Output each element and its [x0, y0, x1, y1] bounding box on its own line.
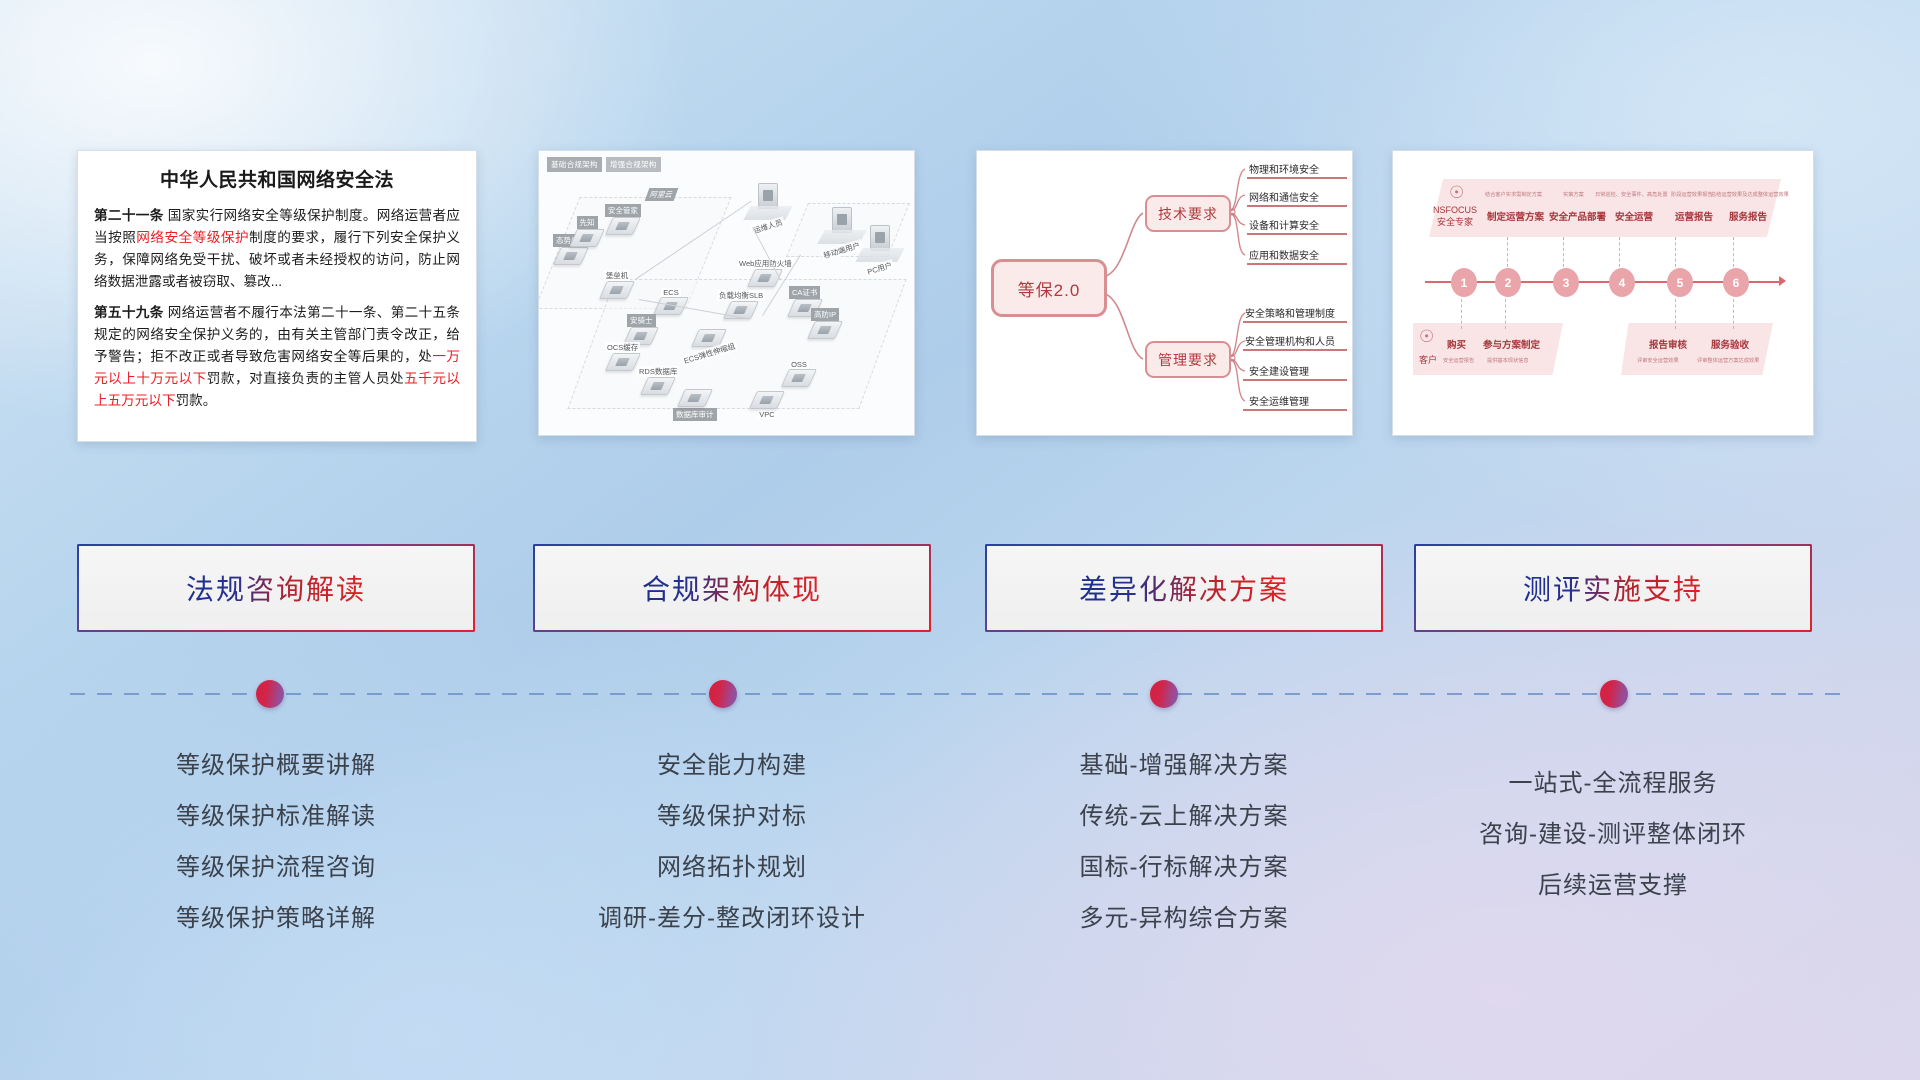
list-item: 基础-增强解决方案	[985, 740, 1383, 791]
node-label: 堡垒机	[604, 270, 631, 281]
node-bastion-host: 堡垒机	[603, 269, 631, 299]
node-label: VPC	[757, 410, 776, 419]
node-label: OSS	[789, 360, 809, 369]
band-customer-right	[1621, 323, 1773, 375]
leaf-underline	[1243, 409, 1347, 411]
law-article-21-highlight: 网络安全等级保护	[136, 230, 249, 245]
node-label: Web应用防火墙	[737, 258, 794, 269]
section-label-text: 法规咨询解读	[186, 568, 366, 608]
law-article-21: 第二十一条 国家实行网络安全等级保护制度。网络运营者应当按照网络安全等级保护制度…	[94, 205, 460, 293]
leaf-underline	[1247, 177, 1347, 179]
platform-shape	[743, 206, 792, 220]
list-item: 等级保护概要讲解	[77, 740, 475, 791]
tick-line	[1563, 237, 1565, 267]
poster-root: 中华人民共和国网络安全法 第二十一条 国家实行网络安全等级保护制度。网络运营者应…	[0, 0, 1920, 1080]
step-sub: 总结运营效果及达成整体运营效果	[1711, 191, 1789, 198]
law-title: 中华人民共和国网络安全法	[94, 165, 460, 192]
node-waf: Web应用防火墙	[737, 257, 794, 287]
tick-line	[1461, 299, 1463, 329]
leaf-underline	[1247, 263, 1347, 265]
mindmap-branch-management: 管理要求	[1145, 341, 1231, 378]
mindmap-leaf: 物理和环境安全	[1249, 161, 1319, 176]
timeline-dot-1	[256, 680, 284, 708]
node-ops-staff: 运维人员	[747, 183, 789, 232]
chip-icon	[605, 353, 641, 371]
timeline-step-dot: 1	[1451, 268, 1477, 297]
card-service-timeline: ☉ NSFOCUS 安全专家 结合客户实求需制定方案 制定运营方案 实策方案 安…	[1392, 150, 1814, 436]
step-sub: 日常巡检、安全事件、高危处置	[1595, 191, 1668, 198]
node-ecs-scaling-group: ECS弹性伸缩组	[681, 329, 738, 359]
node-label: 安全管家	[605, 204, 641, 217]
mindmap-leaf: 安全建设管理	[1249, 363, 1309, 378]
customer-avatar-icon: ☉	[1419, 327, 1434, 347]
customer-step-sub: 评审整体运营方案达成效果	[1697, 357, 1759, 364]
step-title: 制定运营方案	[1487, 209, 1544, 223]
node-oss: OSS	[785, 359, 813, 387]
law-article-59-text-b: 罚款，对直接负责的主管人员处	[207, 371, 404, 386]
list-item: 调研-差分-整改闭环设计	[533, 893, 931, 944]
customer-step-title: 参与方案制定	[1483, 337, 1540, 351]
section-labels-row: 法规咨询解读 合规架构体现 差异化解决方案 测评实施支持	[0, 544, 1920, 636]
node-anti-ddos-ip: 高防IP	[811, 307, 839, 339]
law-article-59-text-c: 罚款。	[176, 393, 217, 408]
node-security-butler: 安全管家	[605, 203, 641, 235]
platform-shape	[855, 248, 904, 262]
label-cloud: 阿里云	[645, 188, 678, 201]
node-label: RDS数据库	[637, 366, 679, 377]
step-title: 安全运营	[1615, 209, 1653, 223]
tab-enhanced-compliance[interactable]: 增强合规架构	[606, 157, 661, 172]
architecture-tabs: 基础合规架构 增强合规架构	[547, 157, 661, 172]
step-title: 安全产品部署	[1549, 209, 1606, 223]
timeline-dashed-line	[70, 693, 1850, 695]
chip-icon	[553, 247, 589, 265]
architecture-canvas: 基础合规架构 增强合规架构 阿里云 态势感知 先知 安全管家	[539, 151, 914, 435]
section-label-box-4[interactable]: 测评实施支持	[1414, 544, 1812, 632]
list-item: 一站式-全流程服务	[1414, 758, 1812, 809]
chip-icon	[781, 369, 817, 387]
mindmap-canvas: 等保2.0 技术要求 管理要求 物理和环境安全 网络和通信安全 设备和计算安全 …	[977, 151, 1352, 435]
service-timeline-canvas: ☉ NSFOCUS 安全专家 结合客户实求需制定方案 制定运营方案 实策方案 安…	[1393, 151, 1813, 435]
mindmap-root: 等保2.0	[991, 259, 1107, 317]
node-vpc: VPC	[753, 391, 781, 419]
section-label-box-2[interactable]: 合规架构体现	[533, 544, 931, 632]
timeline-step-dot: 4	[1609, 268, 1635, 297]
list-item: 等级保护策略详解	[77, 893, 475, 944]
list-item: 安全能力构建	[533, 740, 931, 791]
node-label: 高防IP	[811, 308, 839, 321]
tick-line	[1675, 237, 1677, 267]
node-pc-user: PC用户	[859, 225, 901, 274]
customer-step-sub: 评审安全运营效果	[1637, 357, 1679, 364]
chip-icon	[677, 389, 713, 407]
list-item: 传统-云上解决方案	[985, 791, 1383, 842]
tick-line	[1733, 299, 1735, 329]
customer-step-title: 服务验收	[1711, 337, 1749, 351]
timeline-arrow-icon	[1779, 276, 1786, 286]
expert-avatar-icon: ☉	[1449, 183, 1464, 203]
customer-step-sub: 提供基本现状信息	[1487, 357, 1529, 364]
step-sub: 结合客户实求需制定方案	[1485, 191, 1542, 198]
timeline-dot-2	[709, 680, 737, 708]
law-article-21-label: 第二十一条	[94, 208, 164, 223]
section-items-4: 一站式-全流程服务 咨询-建设-测评整体闭环 后续运营支撑	[1414, 758, 1812, 911]
customer-label: 客户	[1419, 355, 1437, 365]
mindmap-branch-technical: 技术要求	[1145, 195, 1231, 232]
chip-icon	[807, 321, 843, 339]
section-label-text: 测评实施支持	[1523, 568, 1703, 608]
card-mindmap: 等保2.0 技术要求 管理要求 物理和环境安全 网络和通信安全 设备和计算安全 …	[976, 150, 1353, 436]
law-body: 中华人民共和国网络安全法 第二十一条 国家实行网络安全等级保护制度。网络运营者应…	[78, 151, 476, 441]
step-sub: 阶段运营效果报告	[1671, 191, 1713, 198]
list-item: 等级保护标准解读	[77, 791, 475, 842]
chip-icon	[605, 217, 641, 235]
list-item: 等级保护流程咨询	[77, 842, 475, 893]
leaf-underline	[1247, 233, 1347, 235]
leaf-underline	[1247, 205, 1347, 207]
tick-line	[1507, 237, 1509, 267]
list-item: 咨询-建设-测评整体闭环	[1414, 809, 1812, 860]
timeline-dot-4	[1600, 680, 1628, 708]
tick-line	[1619, 237, 1621, 267]
customer-step-title: 报告审核	[1649, 337, 1687, 351]
step-sub: 实策方案	[1563, 191, 1584, 198]
node-ocs-cache: OCS缓存	[605, 341, 640, 371]
node-label: OCS缓存	[605, 342, 640, 353]
section-label-box-1[interactable]: 法规咨询解读	[77, 544, 475, 632]
step-title: 服务报告	[1729, 209, 1767, 223]
chip-icon	[749, 391, 785, 409]
section-items-3: 基础-增强解决方案 传统-云上解决方案 国标-行标解决方案 多元-异构综合方案	[985, 740, 1383, 944]
law-article-59-label: 第五十九条	[94, 305, 164, 320]
list-item: 多元-异构综合方案	[985, 893, 1383, 944]
node-xianzhi: 先知	[573, 215, 601, 247]
customer-step-title: 购买	[1447, 337, 1466, 351]
section-items-1: 等级保护概要讲解 等级保护标准解读 等级保护流程咨询 等级保护策略详解	[77, 740, 475, 944]
section-items-2: 安全能力构建 等级保护对标 网络拓扑规划 调研-差分-整改闭环设计	[533, 740, 931, 944]
node-label: 负载均衡SLB	[717, 290, 765, 301]
node-ecs: ECS	[657, 287, 685, 315]
node-label: 安骑士	[627, 314, 656, 327]
cards-row: 中华人民共和国网络安全法 第二十一条 国家实行网络安全等级保护制度。网络运营者应…	[0, 150, 1920, 442]
chip-icon	[569, 229, 605, 247]
list-item: 等级保护对标	[533, 791, 931, 842]
tick-line	[1733, 237, 1735, 267]
section-label-box-3[interactable]: 差异化解决方案	[985, 544, 1383, 632]
node-mobile-user: 移动端用户	[821, 207, 863, 256]
timeline-step-dot: 6	[1723, 268, 1749, 297]
mindmap-leaf: 安全策略和管理制度	[1245, 305, 1335, 320]
node-label: 数据库审计	[673, 408, 717, 421]
chip-icon	[599, 281, 635, 299]
mindmap-leaf: 网络和通信安全	[1249, 189, 1319, 204]
chip-icon	[747, 269, 783, 287]
timeline-dot-3	[1150, 680, 1178, 708]
tick-line	[1505, 299, 1507, 329]
mindmap-leaf: 设备和计算安全	[1249, 217, 1319, 232]
timeline-step-dot: 5	[1667, 268, 1693, 297]
section-label-text: 合规架构体现	[642, 568, 822, 608]
section-label-text: 差异化解决方案	[1079, 568, 1289, 608]
mindmap-leaf: 应用和数据安全	[1249, 247, 1319, 262]
timeline-step-dot: 2	[1495, 268, 1521, 297]
customer-step-sub: 安全运营报告	[1443, 357, 1474, 364]
tab-basic-compliance[interactable]: 基础合规架构	[547, 157, 602, 172]
law-article-59: 第五十九条 网络运营者不履行本法第二十一条、第二十五条规定的网络安全保护义务的，…	[94, 302, 460, 412]
leaf-underline	[1243, 379, 1347, 381]
expert-name: NSFOCUS	[1433, 205, 1477, 215]
list-item: 网络拓扑规划	[533, 842, 931, 893]
mindmap-leaf: 安全运维管理	[1249, 393, 1309, 408]
node-label: CA证书	[789, 286, 820, 299]
chip-icon	[640, 377, 676, 395]
leaf-underline	[1243, 321, 1347, 323]
card-architecture-diagram: 基础合规架构 增强合规架构 阿里云 态势感知 先知 安全管家	[538, 150, 915, 436]
list-item: 国标-行标解决方案	[985, 842, 1383, 893]
node-label: ECS	[661, 288, 680, 297]
node-label: 先知	[577, 216, 598, 229]
tick-line	[1675, 299, 1677, 329]
mindmap-leaf: 安全管理机构和人员	[1245, 333, 1335, 348]
list-item: 后续运营支撑	[1414, 860, 1812, 911]
timeline-step-dot: 3	[1553, 268, 1579, 297]
expert-role: 安全专家	[1437, 217, 1473, 227]
card-law-text: 中华人民共和国网络安全法 第二十一条 国家实行网络安全等级保护制度。网络运营者应…	[77, 150, 477, 442]
band-expert	[1429, 179, 1781, 237]
node-database-audit: 数据库审计	[673, 389, 717, 421]
step-title: 运营报告	[1675, 209, 1713, 223]
leaf-underline	[1243, 349, 1347, 351]
